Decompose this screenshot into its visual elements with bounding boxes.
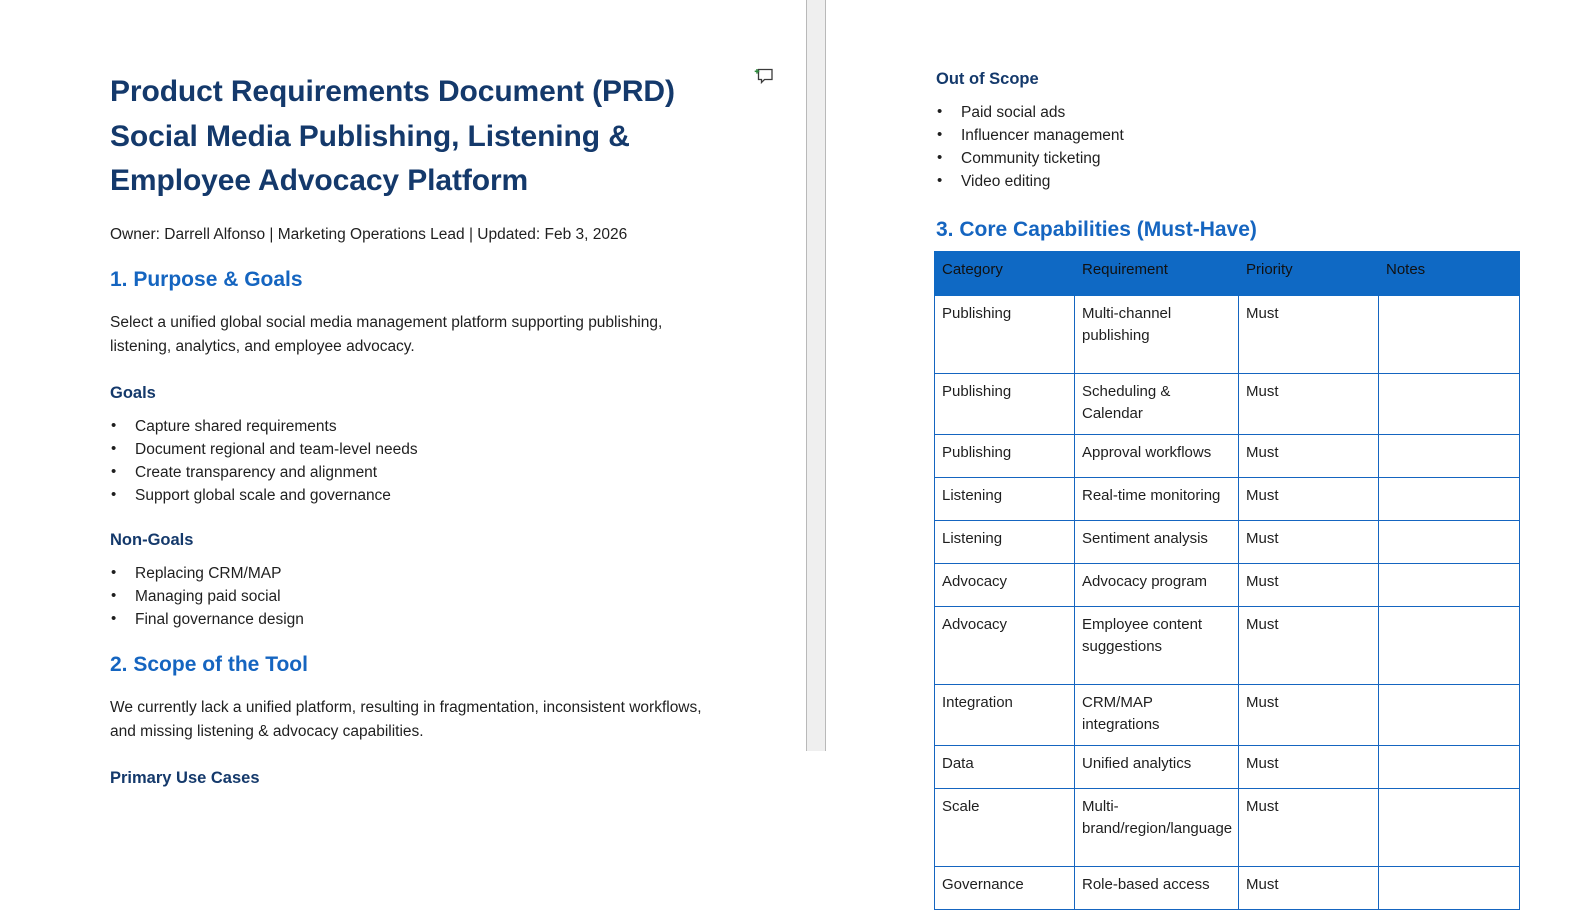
cell-category: Publishing (935, 374, 1075, 435)
title-line-1: Product Requirements Document (PRD) (110, 70, 710, 115)
cell-priority: Must (1239, 374, 1379, 435)
right-page-content: Out of Scope Paid social ads Influencer … (936, 0, 1536, 244)
cell-requirement: Role-based access (1075, 867, 1239, 910)
table-row: Publishing Multi-channel publishing Must (935, 296, 1520, 374)
cell-priority: Must (1239, 607, 1379, 685)
cell-notes (1379, 607, 1520, 685)
document-page-left: Product Requirements Document (PRD) Soci… (0, 0, 806, 751)
list-item: Replacing CRM/MAP (110, 563, 710, 585)
heading-scope-of-the-tool: 2. Scope of the Tool (110, 651, 710, 679)
cell-requirement: Advocacy program (1075, 564, 1239, 607)
cell-priority: Must (1239, 296, 1379, 374)
out-of-scope-list: Paid social ads Influencer management Co… (936, 102, 1536, 193)
cell-category: Scale (935, 789, 1075, 867)
cell-priority: Must (1239, 685, 1379, 746)
cell-requirement: Scheduling & Calendar (1075, 374, 1239, 435)
core-capabilities-table: Category Requirement Priority Notes Publ… (934, 251, 1520, 910)
scope-intro-paragraph: We currently lack a unified platform, re… (110, 696, 710, 745)
cell-priority: Must (1239, 435, 1379, 478)
cell-category: Publishing (935, 296, 1075, 374)
cell-requirement: CRM/MAP integrations (1075, 685, 1239, 746)
cell-requirement: Real-time monitoring (1075, 478, 1239, 521)
heading-purpose-and-goals: 1. Purpose & Goals (110, 266, 710, 294)
cell-priority: Must (1239, 867, 1379, 910)
heading-out-of-scope: Out of Scope (936, 0, 1536, 90)
page-gutter-divider (806, 0, 826, 751)
cell-requirement: Multi-channel publishing (1075, 296, 1239, 374)
table-row: Publishing Approval workflows Must (935, 435, 1520, 478)
purpose-intro-paragraph: Select a unified global social media man… (110, 311, 710, 360)
list-item: Video editing (936, 171, 1536, 193)
list-item: Final governance design (110, 609, 710, 631)
left-page-content: Product Requirements Document (PRD) Soci… (110, 0, 710, 789)
table-row: Listening Sentiment analysis Must (935, 521, 1520, 564)
goals-list: Capture shared requirements Document reg… (110, 416, 710, 507)
list-item: Capture shared requirements (110, 416, 710, 438)
heading-core-capabilities: 3. Core Capabilities (Must-Have) (936, 216, 1536, 244)
cell-category: Data (935, 746, 1075, 789)
cell-category: Listening (935, 521, 1075, 564)
list-item: Managing paid social (110, 586, 710, 608)
cell-priority: Must (1239, 521, 1379, 564)
cell-priority: Must (1239, 478, 1379, 521)
list-item: Support global scale and governance (110, 485, 710, 507)
heading-goals: Goals (110, 382, 710, 404)
cell-notes (1379, 685, 1520, 746)
table-row: Data Unified analytics Must (935, 746, 1520, 789)
list-item: Document regional and team-level needs (110, 439, 710, 461)
document-page-right: Out of Scope Paid social ads Influencer … (826, 0, 1584, 751)
cell-category: Advocacy (935, 607, 1075, 685)
list-item: Influencer management (936, 125, 1536, 147)
page-title: Product Requirements Document (PRD) Soci… (110, 0, 710, 204)
cell-notes (1379, 478, 1520, 521)
table-row: Scale Multi-brand/region/language Must (935, 789, 1520, 867)
table-row: Advocacy Employee content suggestions Mu… (935, 607, 1520, 685)
cell-notes (1379, 374, 1520, 435)
cell-notes (1379, 521, 1520, 564)
cell-priority: Must (1239, 564, 1379, 607)
table-row: Integration CRM/MAP integrations Must (935, 685, 1520, 746)
column-header-category[interactable]: Category (935, 252, 1075, 296)
cell-requirement: Sentiment analysis (1075, 521, 1239, 564)
cell-priority: Must (1239, 789, 1379, 867)
table-row: Advocacy Advocacy program Must (935, 564, 1520, 607)
cell-category: Governance (935, 867, 1075, 910)
title-line-3: Employee Advocacy Platform (110, 159, 710, 204)
table-row: Publishing Scheduling & Calendar Must (935, 374, 1520, 435)
cell-priority: Must (1239, 746, 1379, 789)
cell-notes (1379, 564, 1520, 607)
document-meta: Owner: Darrell Alfonso | Marketing Opera… (110, 224, 710, 246)
cell-category: Integration (935, 685, 1075, 746)
title-line-2: Social Media Publishing, Listening & (110, 115, 710, 160)
cell-notes (1379, 789, 1520, 867)
add-comment-icon[interactable] (753, 64, 777, 88)
cell-notes (1379, 867, 1520, 910)
cell-category: Publishing (935, 435, 1075, 478)
cell-notes (1379, 746, 1520, 789)
cell-requirement: Unified analytics (1075, 746, 1239, 789)
cell-notes (1379, 435, 1520, 478)
column-header-priority[interactable]: Priority (1239, 252, 1379, 296)
cell-requirement: Multi-brand/region/language (1075, 789, 1239, 867)
table-header-row: Category Requirement Priority Notes (935, 252, 1520, 296)
heading-non-goals: Non-Goals (110, 529, 710, 551)
heading-primary-use-cases: Primary Use Cases (110, 767, 710, 789)
cell-category: Listening (935, 478, 1075, 521)
table-row: Listening Real-time monitoring Must (935, 478, 1520, 521)
table-row: Governance Role-based access Must (935, 867, 1520, 910)
list-item: Paid social ads (936, 102, 1536, 124)
cell-notes (1379, 296, 1520, 374)
list-item: Create transparency and alignment (110, 462, 710, 484)
non-goals-list: Replacing CRM/MAP Managing paid social F… (110, 563, 710, 631)
cell-category: Advocacy (935, 564, 1075, 607)
list-item: Community ticketing (936, 148, 1536, 170)
cell-requirement: Employee content suggestions (1075, 607, 1239, 685)
column-header-requirement[interactable]: Requirement (1075, 252, 1239, 296)
cell-requirement: Approval workflows (1075, 435, 1239, 478)
column-header-notes[interactable]: Notes (1379, 252, 1520, 296)
